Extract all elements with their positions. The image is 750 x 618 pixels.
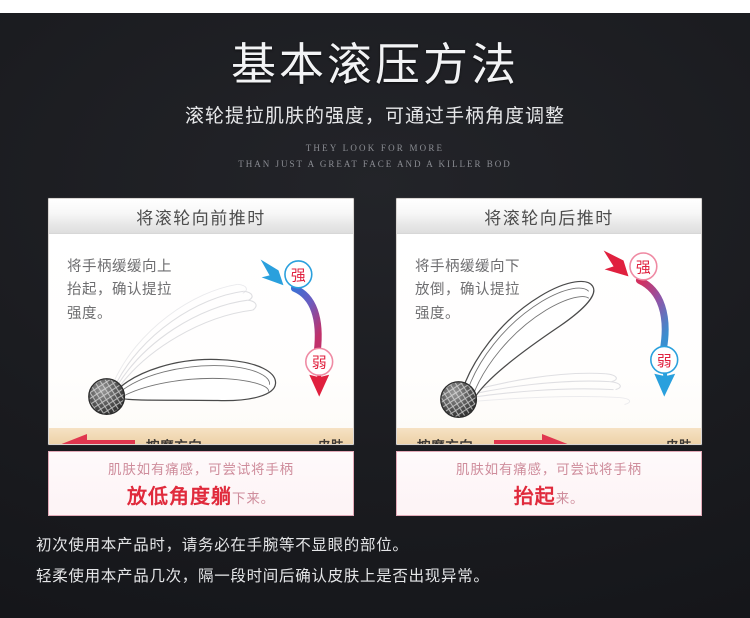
panel-header-right: 将滚轮向后推时 bbox=[397, 199, 701, 234]
pain-note-line2-left: 放低角度躺下来。 bbox=[127, 480, 275, 509]
footer-note-line2: 轻柔使用本产品几次，隔一段时间后确认皮肤上是否出现异常。 bbox=[36, 561, 726, 592]
badge-strong-left: 强 bbox=[291, 268, 306, 284]
pain-note-right: 肌肤如有痛感，可尝试将手柄 抬起来。 bbox=[396, 451, 702, 516]
pain-note-tail-right: 来。 bbox=[556, 491, 585, 506]
pain-note-emphasis-left: 放低角度躺 bbox=[127, 486, 232, 508]
panel-card-left: 将滚轮向前推时 将手柄缓缓向上 抬起，确认提拉 强度。 bbox=[48, 198, 354, 445]
pain-note-left: 肌肤如有痛感，可尝试将手柄 放低角度躺下来。 bbox=[48, 451, 354, 516]
arrow-strong-right bbox=[604, 251, 629, 277]
arrow-strong-left bbox=[261, 259, 284, 285]
skin-label-left: 皮肤 bbox=[318, 435, 344, 445]
badge-weak-left: 弱 bbox=[312, 356, 327, 372]
top-white-strip bbox=[0, 0, 750, 13]
badge-weak-right: 弱 bbox=[657, 354, 672, 370]
panel-instruction-right: 将手柄缓缓向下 放倒，确认提拉 强度。 bbox=[415, 256, 520, 326]
panel-body-left: 将手柄缓缓向上 抬起，确认提拉 强度。 bbox=[49, 234, 353, 428]
footer-note-line1: 初次使用本产品时，请务必在手腕等不显眼的部位。 bbox=[36, 530, 726, 561]
badge-strong-right: 强 bbox=[636, 260, 651, 276]
roller-ball-left bbox=[89, 379, 125, 415]
skin-band-right: 按摩方向 皮肤 bbox=[397, 428, 701, 445]
skin-label-right: 皮肤 bbox=[666, 435, 692, 445]
massage-direction-label-right: 按摩方向 bbox=[417, 435, 473, 446]
english-tagline-line1: THEY LOOK FOR MORE bbox=[0, 141, 750, 156]
pain-note-line2-right: 抬起来。 bbox=[514, 480, 585, 509]
header: 基本滚压方法 滚轮提拉肌肤的强度，可通过手柄角度调整 THEY LOOK FOR… bbox=[0, 40, 750, 172]
pain-note-line1-left: 肌肤如有痛感，可尝试将手柄 bbox=[108, 458, 294, 478]
skin-band-left: 按摩方向 皮肤 bbox=[49, 428, 353, 445]
page-root: 基本滚压方法 滚轮提拉肌肤的强度，可通过手柄角度调整 THEY LOOK FOR… bbox=[0, 0, 750, 618]
panel-push-backward: 将滚轮向后推时 将手柄缓缓向下 放倒，确认提拉 强度。 bbox=[396, 198, 702, 516]
roller-ball-right bbox=[441, 382, 477, 418]
page-subtitle: 滚轮提拉肌肤的强度，可通过手柄角度调整 bbox=[0, 101, 750, 128]
panel-card-right: 将滚轮向后推时 将手柄缓缓向下 放倒，确认提拉 强度。 bbox=[396, 198, 702, 445]
panel-header-left: 将滚轮向前推时 bbox=[49, 199, 353, 234]
footer-notes: 初次使用本产品时，请务必在手腕等不显眼的部位。 轻柔使用本产品几次，隔一段时间后… bbox=[36, 530, 726, 592]
panel-push-forward: 将滚轮向前推时 将手柄缓缓向上 抬起，确认提拉 强度。 bbox=[48, 198, 354, 516]
page-title: 基本滚压方法 bbox=[0, 40, 750, 90]
english-tagline-line2: THAN JUST A GREAT FACE AND A KILLER BOD bbox=[0, 157, 750, 172]
massage-direction-arrow-right bbox=[494, 434, 572, 445]
strength-arc-right bbox=[639, 280, 665, 350]
massage-direction-arrow-left bbox=[57, 434, 135, 445]
panel-instruction-left: 将手柄缓缓向上 抬起，确认提拉 强度。 bbox=[67, 256, 172, 326]
massage-direction-label-left: 按摩方向 bbox=[146, 435, 202, 446]
pain-note-emphasis-right: 抬起 bbox=[514, 486, 556, 508]
pain-note-line1-right: 肌肤如有痛感，可尝试将手柄 bbox=[456, 458, 642, 478]
strength-arc-left bbox=[294, 288, 318, 352]
pain-note-tail-left: 下来。 bbox=[232, 491, 275, 506]
panel-body-right: 将手柄缓缓向下 放倒，确认提拉 强度。 bbox=[397, 234, 701, 428]
instruction-panels: 将滚轮向前推时 将手柄缓缓向上 抬起，确认提拉 强度。 bbox=[48, 198, 702, 516]
english-tagline: THEY LOOK FOR MORE THAN JUST A GREAT FAC… bbox=[0, 141, 750, 172]
